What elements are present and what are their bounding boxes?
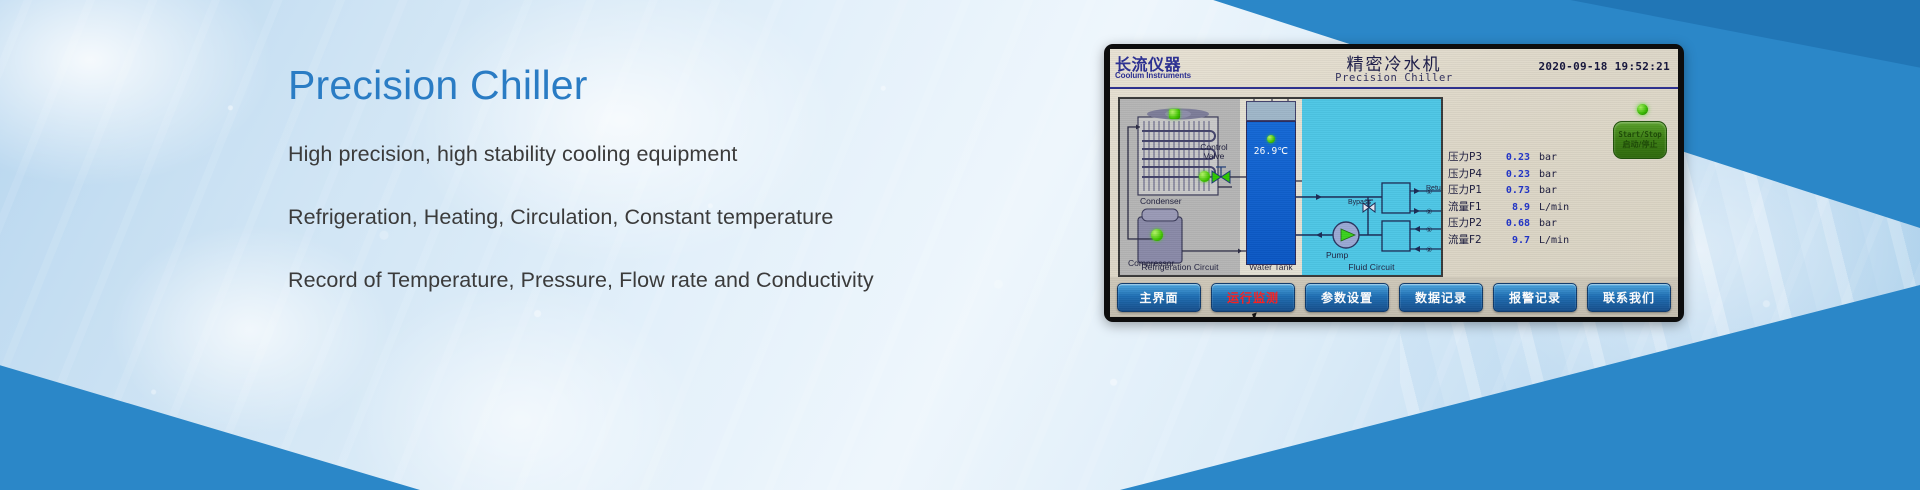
readout-value: 8.9	[1496, 202, 1530, 213]
process-diagram: Refrigeration Circuit Water Tank Fluid C…	[1118, 97, 1443, 277]
nav-button-contact-us[interactable]: 联系我们	[1587, 283, 1671, 312]
compressor-status-led	[1151, 229, 1163, 241]
readout-row: 压力P1 0.73 bar	[1448, 182, 1638, 199]
nav-button-data-records[interactable]: 数据记录	[1399, 283, 1483, 312]
control-valve-label-line2: Valve	[1204, 151, 1225, 161]
hmi-header: 长流仪器 Coolum Instruments 精密冷水机 Precision …	[1110, 49, 1678, 89]
nav-button-label: 运行监测	[1227, 289, 1279, 306]
readout-row: 流量F2 9.7 L/min	[1448, 232, 1638, 249]
readout-name: 压力P4	[1448, 166, 1496, 181]
water-tank-lid	[1246, 101, 1296, 121]
readout-value: 0.68	[1496, 218, 1530, 229]
svg-text:②: ②	[1426, 208, 1432, 216]
tank-temperature-value: 26.9℃	[1246, 146, 1296, 157]
readout-row: 压力P3 0.23 bar	[1448, 149, 1638, 166]
pump-label: Pump	[1326, 251, 1348, 260]
readout-unit: L/min	[1530, 202, 1569, 213]
nav-button-label: 主界面	[1139, 289, 1178, 306]
readout-unit: bar	[1530, 218, 1557, 229]
readout-row: 压力P4 0.23 bar	[1448, 166, 1638, 183]
condenser-fan-status-led	[1169, 109, 1180, 119]
start-stop-button[interactable]: Start/Stop 启动/停止	[1613, 121, 1667, 159]
readout-name: 压力P1	[1448, 182, 1496, 197]
bypass-label: Bypass	[1348, 199, 1371, 206]
readout-row: 压力P2 0.68 bar	[1448, 215, 1638, 232]
page-title: Precision Chiller	[288, 62, 588, 109]
readout-name: 压力P2	[1448, 215, 1496, 230]
nav-button-label: 数据记录	[1415, 289, 1467, 306]
feature-line-2: Refrigeration, Heating, Circulation, Con…	[288, 205, 833, 230]
svg-text:②: ②	[1426, 246, 1432, 254]
start-stop-label-en: Start/Stop	[1618, 130, 1661, 139]
condenser-label: Condenser	[1140, 197, 1182, 206]
hmi-nav-bar: 主界面 运行监测 参数设置 数据记录 报警记录 联系我们	[1110, 277, 1678, 317]
readout-name: 流量F2	[1448, 232, 1496, 247]
feature-line-3: Record of Temperature, Pressure, Flow ra…	[288, 268, 874, 293]
readout-row: 流量F1 8.9 L/min	[1448, 199, 1638, 216]
readout-value: 0.73	[1496, 185, 1530, 196]
start-stop-label-cn: 启动/停止	[1623, 139, 1658, 150]
nav-button-main-screen[interactable]: 主界面	[1117, 283, 1201, 312]
readout-name: 流量F1	[1448, 199, 1496, 214]
nav-button-alarm-records[interactable]: 报警记录	[1493, 283, 1577, 312]
hmi-timestamp: 2020-09-18 19:52:21	[1538, 60, 1670, 73]
readout-unit: bar	[1530, 152, 1557, 163]
readout-unit: bar	[1530, 169, 1557, 180]
readout-name: 压力P3	[1448, 149, 1496, 164]
mouse-cursor-icon	[1252, 312, 1259, 317]
tank-level-status-led	[1267, 135, 1275, 143]
svg-text:①: ①	[1426, 226, 1432, 234]
feature-line-1: High precision, high stability cooling e…	[288, 142, 737, 167]
nav-button-parameter-settings[interactable]: 参数设置	[1305, 283, 1389, 312]
sensor-readout-list: 压力P3 0.23 bar 压力P4 0.23 bar 压力P1 0.73 ba…	[1448, 149, 1638, 248]
nav-button-label: 报警记录	[1509, 289, 1561, 306]
marketing-copy: Precision Chiller High precision, high s…	[0, 0, 900, 490]
nav-button-run-monitor[interactable]: 运行监测	[1211, 283, 1295, 312]
control-valve-label: Control Valve	[1192, 143, 1236, 161]
return-port-label: Return	[1426, 185, 1443, 192]
power-status-led	[1637, 104, 1648, 115]
nav-button-label: 参数设置	[1321, 289, 1373, 306]
banner-stage: Precision Chiller High precision, high s…	[0, 0, 1920, 490]
hmi-device-bezel: 长流仪器 Coolum Instruments 精密冷水机 Precision …	[1104, 44, 1684, 322]
readout-value: 0.23	[1496, 169, 1530, 180]
readout-unit: L/min	[1530, 235, 1569, 246]
control-valve-status-led	[1199, 171, 1210, 182]
readout-unit: bar	[1530, 185, 1557, 196]
nav-button-label: 联系我们	[1603, 289, 1655, 306]
hmi-screen[interactable]: 长流仪器 Coolum Instruments 精密冷水机 Precision …	[1110, 49, 1678, 317]
hmi-title-en: Precision Chiller	[1110, 72, 1678, 84]
compressor-label: Compressor	[1128, 259, 1174, 268]
readout-value: 9.7	[1496, 235, 1530, 246]
readout-value: 0.23	[1496, 152, 1530, 163]
